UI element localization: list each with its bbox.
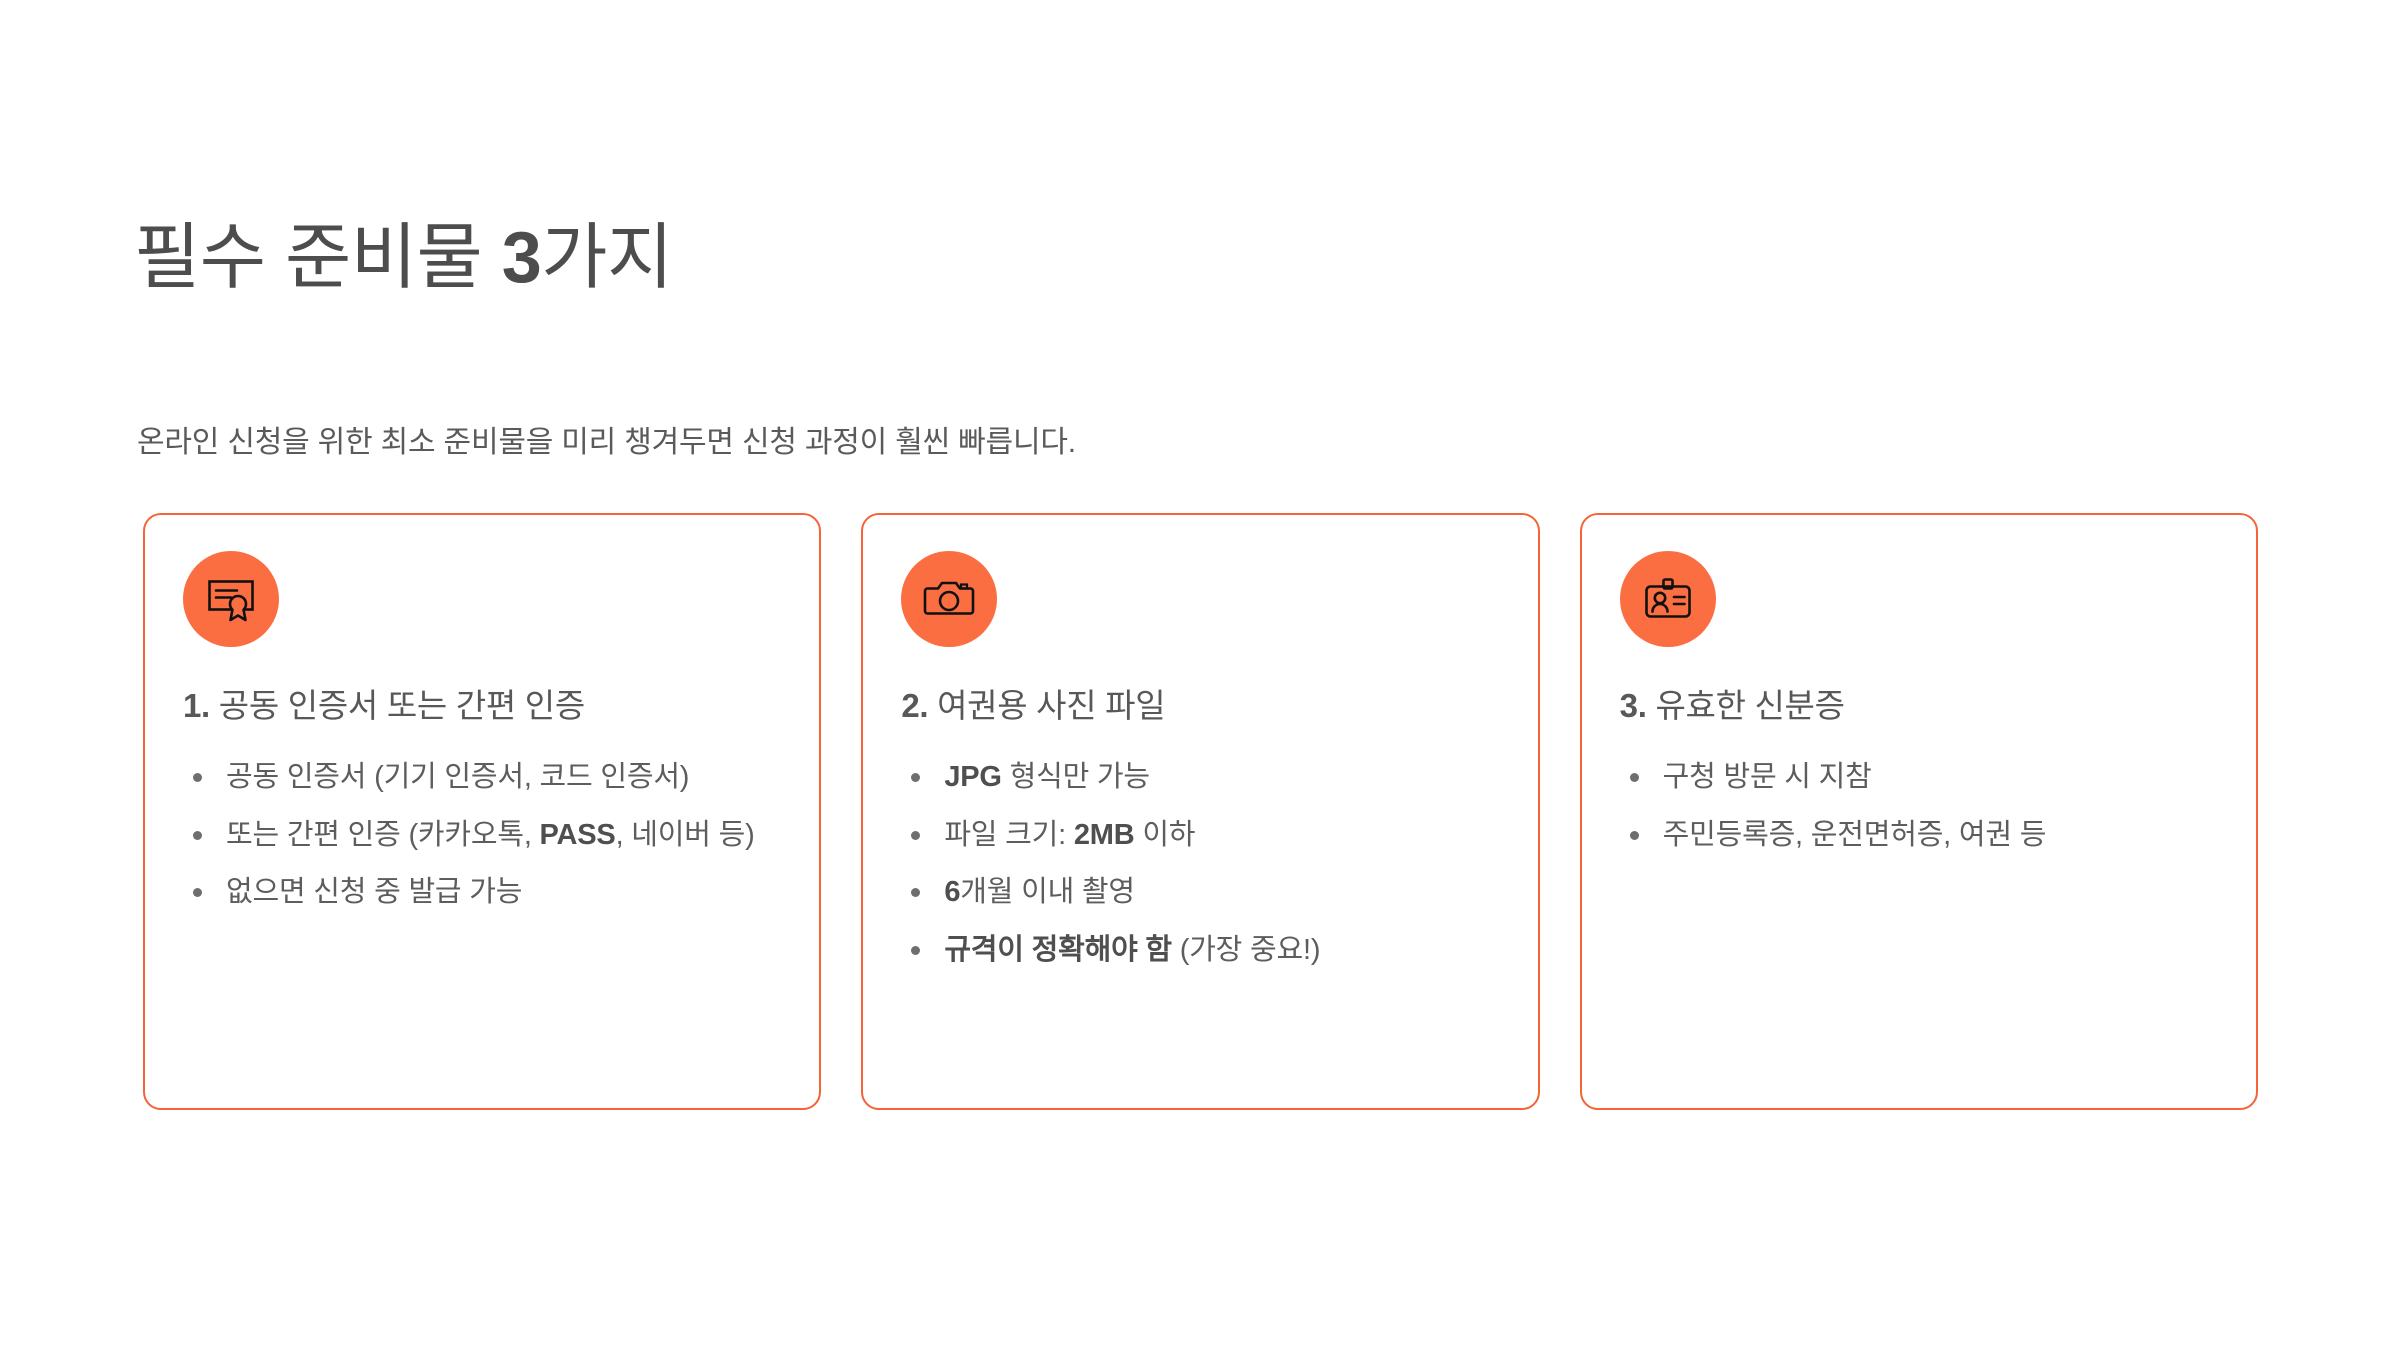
- list-item-text: 또는 간편 인증 (카카오톡,: [226, 819, 540, 851]
- certificate-icon-badge: [183, 551, 279, 647]
- list-item-emphasis: PASS: [540, 819, 616, 851]
- list-item-text: 없으면 신청 중 발급 가능: [226, 876, 522, 908]
- page-header: 필수 준비물 3가지: [134, 218, 2264, 299]
- page-subtitle: 온라인 신청을 위한 최소 준비물을 미리 챙겨두면 신청 과정이 훨씬 빠릅니…: [137, 420, 1076, 465]
- list-item: JPG 형식만 가능: [901, 752, 1499, 804]
- list-item-text: 구청 방문 시 지참: [1663, 761, 1872, 793]
- list-item: 6개월 이내 촬영: [901, 867, 1499, 919]
- prerequisites-page: 필수 준비물 3가지 온라인 신청을 위한 최소 준비물을 미리 챙겨두면 신청…: [0, 0, 2400, 1350]
- list-item: 또는 간편 인증 (카카오톡, PASS, 네이버 등): [183, 810, 781, 862]
- list-item-text: 개월 이내 촬영: [960, 876, 1135, 908]
- list-item-emphasis: 6: [944, 876, 960, 908]
- list-item-emphasis: 규격이 정확해야 함: [944, 934, 1172, 966]
- card-title-3: 3. 유효한 신분증: [1620, 685, 2218, 728]
- card-title-text-1: 공동 인증서 또는 간편 인증: [210, 687, 585, 724]
- list-item: 파일 크기: 2MB 이하: [901, 810, 1499, 862]
- page-title: 필수 준비물 3가지: [134, 218, 2264, 299]
- id-badge-icon: [1642, 573, 1694, 625]
- list-item-text: 주민등록증, 운전면허증, 여권 등: [1663, 819, 2047, 851]
- prerequisite-card-3: 3. 유효한 신분증 구청 방문 시 지참주민등록증, 운전면허증, 여권 등: [1580, 513, 2258, 1110]
- list-item-emphasis: JPG: [944, 761, 1001, 793]
- list-item: 공동 인증서 (기기 인증서, 코드 인증서): [183, 752, 781, 804]
- certificate-icon: [205, 573, 257, 625]
- id-badge-icon-badge: [1620, 551, 1716, 647]
- list-item-emphasis: 2MB: [1074, 819, 1135, 851]
- card-title-text-2: 여권용 사진 파일: [928, 687, 1165, 724]
- prerequisite-card-list: 1. 공동 인증서 또는 간편 인증 공동 인증서 (기기 인증서, 코드 인증…: [143, 513, 2258, 1110]
- prerequisite-card-1: 1. 공동 인증서 또는 간편 인증 공동 인증서 (기기 인증서, 코드 인증…: [143, 513, 821, 1110]
- card-title-text-3: 유효한 신분증: [1647, 687, 1845, 724]
- card-items-2: JPG 형식만 가능파일 크기: 2MB 이하6개월 이내 촬영규격이 정확해야…: [901, 752, 1499, 976]
- card-title-1: 1. 공동 인증서 또는 간편 인증: [183, 685, 781, 728]
- list-item-text: 이하: [1134, 819, 1195, 851]
- page-title-plain: 필수 준비물: [134, 218, 502, 298]
- list-item-text: 파일 크기:: [944, 819, 1074, 851]
- card-number-3: 3.: [1620, 687, 1647, 724]
- page-title-tail: 가지: [541, 218, 672, 298]
- camera-icon-badge: [901, 551, 997, 647]
- card-items-1: 공동 인증서 (기기 인증서, 코드 인증서)또는 간편 인증 (카카오톡, P…: [183, 752, 781, 919]
- card-title-2: 2. 여권용 사진 파일: [901, 685, 1499, 728]
- list-item: 규격이 정확해야 함 (가장 중요!): [901, 925, 1499, 977]
- card-items-3: 구청 방문 시 지참주민등록증, 운전면허증, 여권 등: [1620, 752, 2218, 861]
- list-item-text: 공동 인증서 (기기 인증서, 코드 인증서): [226, 761, 689, 793]
- list-item: 없으면 신청 중 발급 가능: [183, 867, 781, 919]
- page-title-count: 3: [502, 218, 542, 298]
- list-item-text: (가장 중요!): [1172, 934, 1320, 966]
- list-item-text: 형식만 가능: [1002, 761, 1150, 793]
- list-item: 주민등록증, 운전면허증, 여권 등: [1620, 810, 2218, 862]
- list-item-text: , 네이버 등): [616, 819, 755, 851]
- camera-icon: [923, 573, 975, 625]
- card-number-1: 1.: [183, 687, 210, 724]
- prerequisite-card-2: 2. 여권용 사진 파일 JPG 형식만 가능파일 크기: 2MB 이하6개월 …: [861, 513, 1539, 1110]
- card-number-2: 2.: [901, 687, 928, 724]
- list-item: 구청 방문 시 지참: [1620, 752, 2218, 804]
